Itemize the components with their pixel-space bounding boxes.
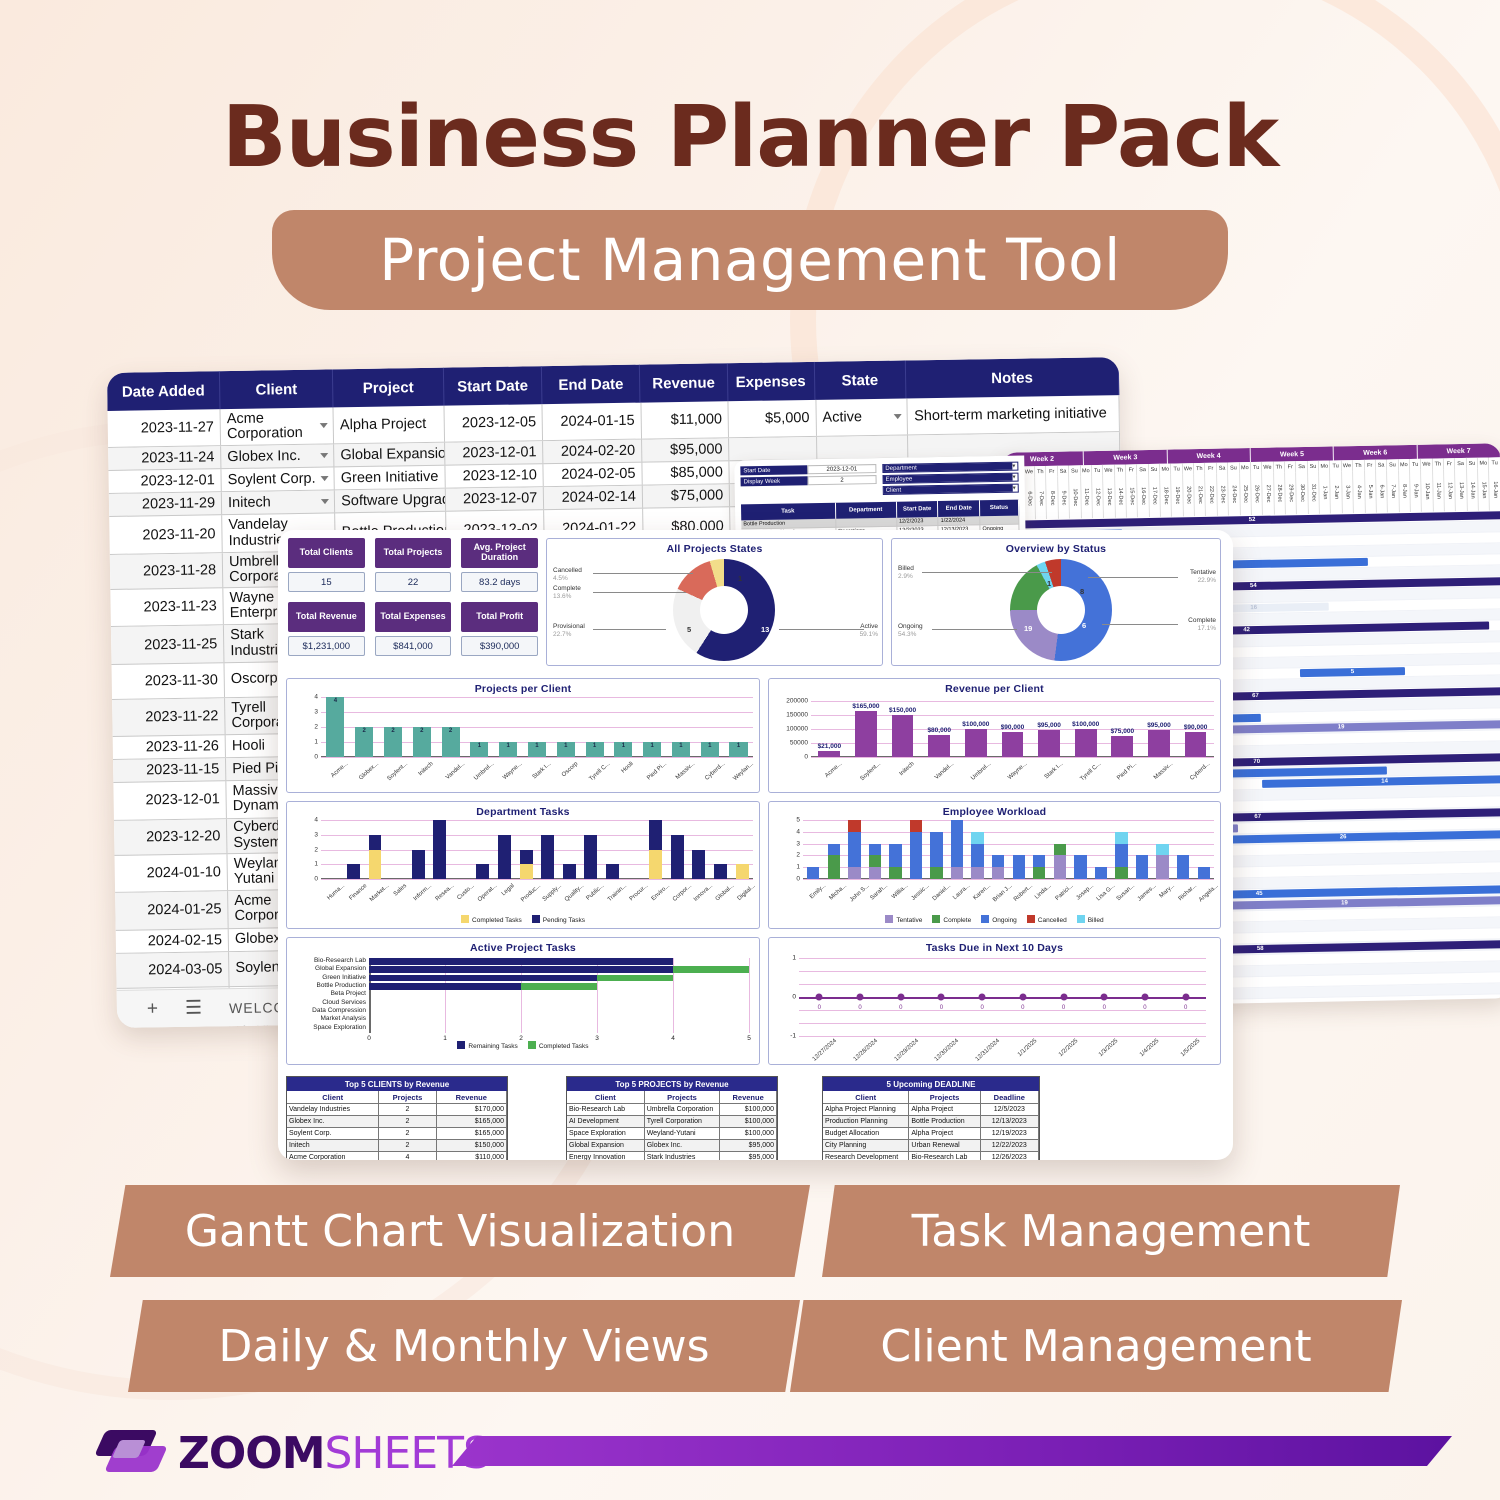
cell[interactable]: Acme Corporation <box>221 407 335 445</box>
cell: Bottle Production <box>909 1116 980 1128</box>
bar-group: Cloud Services <box>369 1000 749 1007</box>
bar-segment <box>889 867 901 879</box>
gantt-date-label: 7-Jan <box>1387 470 1399 512</box>
gantt-date-label: 15-Dec <box>1126 475 1138 517</box>
y-axis-label: Data Compression <box>312 1007 366 1014</box>
y-axis-label: Bottle Production <box>316 982 366 989</box>
data-point <box>816 994 823 1001</box>
bar-group <box>671 820 684 879</box>
kpi-label: Avg. Project Duration <box>461 538 538 568</box>
bar-group <box>714 820 727 879</box>
gantt-client-filter[interactable]: Client▾ <box>883 484 1019 495</box>
cell[interactable]: 2023-11-26 <box>113 735 226 759</box>
chevron-down-icon[interactable]: ▾ <box>1013 485 1016 492</box>
y-axis-label: Market Analysis <box>320 1015 366 1022</box>
bar-group: $100,000 <box>1075 701 1097 757</box>
data-point <box>857 994 864 1001</box>
chevron-down-icon[interactable]: ▾ <box>1012 474 1015 481</box>
x-axis-label: Quality... <box>564 883 585 903</box>
table-row[interactable]: Acme Corporation4$110,000 <box>287 1152 507 1160</box>
x-axis-label: Willia... <box>891 883 909 900</box>
cell[interactable]: $5,000 <box>729 400 817 438</box>
cell[interactable]: 2024-01-25 <box>115 891 229 929</box>
bar-group <box>412 820 425 879</box>
bar-group: $90,000 <box>1185 701 1207 757</box>
column-header: Revenue <box>437 1091 507 1104</box>
chart-all-projects-states[interactable]: All Projects States Cancelled4.5% Comple… <box>546 538 883 666</box>
gantt-display-week-label: Display Week <box>741 476 808 486</box>
chevron-down-icon[interactable]: ▾ <box>1012 463 1015 470</box>
table-title: 5 Upcoming DEADLINE <box>823 1077 1039 1091</box>
gantt-dow-label: Tu <box>1092 465 1104 476</box>
table-row[interactable]: Space ExplorationWeyland-Yutani$100,000 <box>567 1128 777 1140</box>
table-row[interactable]: Global ExpansionGlobex Inc.$95,000 <box>567 1140 777 1152</box>
cell: 2 <box>379 1116 436 1128</box>
gantt-date-label: 20-Dec <box>1183 474 1195 516</box>
cell[interactable]: 2023-11-29 <box>109 493 222 517</box>
gantt-date-label: 4-Jan <box>1353 471 1365 513</box>
x-axis-label: 12/29/2024 <box>893 1038 919 1063</box>
kpi-label: Total Expenses <box>375 602 452 632</box>
x-axis-label: Acme... <box>330 761 349 779</box>
legend-complete: Complete13.6% <box>553 585 581 601</box>
data-label: 0 <box>940 1005 943 1011</box>
x-axis-label: Vandel... <box>934 761 955 781</box>
y-axis-label: Cloud Services <box>322 999 366 1006</box>
cell[interactable] <box>817 436 909 459</box>
bar-segment <box>521 983 597 990</box>
legend-item: Tentative <box>885 915 922 924</box>
gantt-dow-label: Sa <box>1376 459 1388 470</box>
bar-data-label: 1 <box>586 743 604 749</box>
cell[interactable]: 2024-02-14 <box>544 486 643 510</box>
bar-segment <box>828 855 840 879</box>
table-row[interactable]: City PlanningUrban Renewal12/22/2023 <box>823 1140 1039 1152</box>
chart-employee-workload[interactable]: Employee Workload 012345 Emily...Micha..… <box>768 801 1221 929</box>
cell[interactable]: Green Initiative <box>335 466 446 490</box>
gridline <box>321 757 753 758</box>
table-header-row: ClientProjectsRevenue <box>287 1091 507 1104</box>
gantt-date-label: 31-Dec <box>1308 472 1320 514</box>
cell[interactable]: 2023-11-22 <box>112 698 226 736</box>
bar-segment <box>1156 855 1168 879</box>
column-header[interactable]: State <box>814 360 906 399</box>
y-axis-label: Bio-Research Lab <box>314 957 366 964</box>
gantt-dow-label: Mo <box>1239 462 1251 473</box>
cell[interactable]: Active <box>816 398 908 436</box>
cell: 12/13/2023 <box>981 1116 1039 1128</box>
bar-group <box>828 820 840 879</box>
y-axis-tick: 2 <box>314 724 318 731</box>
gantt-date-label: 5-Jan <box>1365 471 1377 513</box>
cell[interactable]: Alpha Project <box>334 406 445 444</box>
gantt-date-label: 25-Dec <box>1240 473 1252 515</box>
gantt-date-label: 14-Dec <box>1115 475 1127 517</box>
column-header[interactable]: Client <box>220 369 334 409</box>
gridline <box>799 1036 1206 1037</box>
chevron-down-icon[interactable] <box>321 499 329 504</box>
bar-segment <box>1115 867 1127 879</box>
cell: Alpha Project Planning <box>823 1104 909 1116</box>
cell[interactable]: Soylent Corp. <box>222 468 335 492</box>
x-axis-label: Karen... <box>973 883 993 902</box>
kpi-value: $390,000 <box>461 636 538 656</box>
column-header[interactable]: End Date <box>542 365 641 405</box>
gantt-date-label: 9-Jan <box>1410 470 1422 512</box>
cell[interactable]: Global Expansion <box>334 443 445 467</box>
gantt-date-label: 3-Jan <box>1342 471 1354 513</box>
footer-accent-bar <box>452 1436 1452 1466</box>
legend-active: Active59.1% <box>860 623 878 639</box>
x-axis-label: Robert... <box>1013 883 1034 903</box>
sheet-list-icon[interactable]: ☰ <box>185 997 203 1020</box>
cell: Stark Industries <box>645 1152 721 1160</box>
gantt-dow-label: Mo <box>1478 457 1490 468</box>
gantt-dow-label: Fr <box>1285 461 1297 472</box>
gantt-dow-label: Fr <box>1205 463 1217 474</box>
chart-title: Tasks Due in Next 10 Days <box>769 938 1220 954</box>
bar-group: 1 <box>528 697 546 757</box>
x-axis-label: Brian J... <box>992 883 1014 903</box>
bar: 1 <box>672 742 690 757</box>
add-sheet-icon[interactable]: + <box>147 998 159 1020</box>
chevron-down-icon[interactable] <box>321 476 329 481</box>
cell[interactable]: 2023-12-20 <box>114 819 228 855</box>
x-axis-label: Lisa G... <box>1096 883 1117 902</box>
bar-group <box>628 820 641 879</box>
data-point <box>938 994 945 1001</box>
bar-group: 1 <box>499 697 517 757</box>
table-top-clients[interactable]: Top 5 CLIENTS by Revenue ClientProjectsR… <box>286 1076 508 1160</box>
table-upcoming-deadlines[interactable]: 5 Upcoming DEADLINE ClientProjectsDeadli… <box>822 1076 1040 1160</box>
cell[interactable]: 2024-02-20 <box>543 440 642 464</box>
cell[interactable]: 2024-02-15 <box>116 929 229 953</box>
data-point <box>1182 994 1189 1001</box>
table-top-projects[interactable]: Top 5 PROJECTS by Revenue ClientProjects… <box>566 1076 778 1160</box>
column-header: End Date <box>938 500 980 517</box>
bar: 1 <box>729 742 747 757</box>
chart-title: Projects per Client <box>287 679 759 695</box>
column-header[interactable]: Revenue <box>640 363 728 402</box>
cell[interactable]: 2023-12-01 <box>113 781 227 819</box>
chevron-down-icon[interactable] <box>320 453 328 458</box>
legend-item: Ongoing <box>981 915 1017 924</box>
column-header[interactable]: Start Date <box>444 366 543 406</box>
cell[interactable]: Short-term marketing initiative <box>908 395 1120 435</box>
legend-swatch <box>932 915 940 923</box>
bar-group: 1 <box>643 697 661 757</box>
cell: 12/19/2023 <box>981 1128 1039 1140</box>
y-axis-tick: 0 <box>796 876 800 883</box>
feature-badge-client: Client Management <box>790 1300 1402 1392</box>
y-axis-tick: 3 <box>314 709 318 716</box>
kpi-value: $841,000 <box>375 636 452 656</box>
feature-badge-views: Daily & Monthly Views <box>128 1300 800 1392</box>
bar-segment <box>910 820 922 832</box>
y-axis-tick: 100000 <box>786 726 808 733</box>
column-header[interactable]: Expenses <box>727 362 815 401</box>
gantt-start-date-value[interactable]: 2023-12-01 <box>807 464 876 474</box>
data-point <box>1060 994 1067 1001</box>
chevron-down-icon[interactable] <box>894 414 902 419</box>
y-axis-tick: 0 <box>792 994 796 1001</box>
column-header: Projects <box>909 1091 980 1104</box>
gantt-dow-label: Th <box>1274 461 1286 472</box>
bar-segment <box>807 867 819 879</box>
bar: 1 <box>528 742 546 757</box>
cell[interactable]: $85,000 <box>642 462 730 485</box>
x-axis-label: Weylan... <box>732 761 755 782</box>
table-row[interactable]: Energy InnovationStark Industries$95,000 <box>567 1152 777 1160</box>
chart-tasks-due[interactable]: Tasks Due in Next 10 Days 10-10000000000… <box>768 937 1221 1065</box>
gridline <box>799 958 1206 959</box>
x-axis-label: Tyrell C... <box>1080 761 1103 782</box>
table-row[interactable]: Alpha Project PlanningAlpha Project12/5/… <box>823 1104 1039 1116</box>
bar-group <box>910 820 922 879</box>
table-row[interactable]: Soylent Corp.2$165,000 <box>287 1128 507 1140</box>
data-label: 0 <box>858 1005 861 1011</box>
x-axis-label: Custo... <box>456 883 475 901</box>
cell[interactable] <box>729 437 817 460</box>
cell: Tyrell Corporation <box>645 1116 721 1128</box>
page-title: Business Planner Pack <box>0 88 1500 187</box>
bar-group: 1 <box>586 697 604 757</box>
cell[interactable]: 2023-11-30 <box>112 663 226 699</box>
bar-group <box>930 820 942 879</box>
gantt-date-label: 27-Dec <box>1262 473 1274 515</box>
bar-segment <box>1054 855 1066 879</box>
bar-group <box>869 820 881 879</box>
bar-segment <box>992 855 1004 867</box>
y-axis-tick: 200000 <box>786 698 808 705</box>
gantt-dow-label: Sa <box>1058 466 1070 477</box>
x-axis-label: Initech <box>417 761 434 777</box>
bar-group <box>1013 820 1025 879</box>
cell[interactable]: $95,000 <box>642 439 730 462</box>
bar-group <box>692 820 705 879</box>
gantt-dow-label: Tu <box>1410 459 1422 470</box>
gantt-department-filter[interactable]: Department▾ <box>882 462 1018 473</box>
bar-group <box>1156 820 1168 879</box>
bar-segment <box>828 844 840 856</box>
kpi-label: Total Projects <box>375 538 452 568</box>
bar-group <box>1115 820 1127 879</box>
y-axis-tick: 0 <box>314 876 318 883</box>
cell[interactable]: 2023-11-28 <box>110 553 224 589</box>
column-header[interactable]: Project <box>333 368 444 408</box>
donut-all-projects: Cancelled4.5% Complete13.6% Provisional2… <box>547 555 882 663</box>
legend-swatch <box>1077 915 1085 923</box>
bar: $80,000 <box>928 735 950 757</box>
cell: Urban Renewal <box>909 1140 980 1152</box>
bar: $95,000 <box>1038 730 1060 757</box>
kpi-label: Total Clients <box>288 538 365 568</box>
bar-segment <box>369 835 382 850</box>
table-row[interactable]: Production PlanningBottle Production12/1… <box>823 1116 1039 1128</box>
cell: Soylent Corp. <box>287 1128 379 1140</box>
cell[interactable]: 2023-12-01 <box>108 470 221 494</box>
cell[interactable]: 2023-11-23 <box>110 588 224 626</box>
bar-segment <box>649 850 662 880</box>
bar-segment <box>1115 832 1127 844</box>
table-row[interactable]: Initech2$150,000 <box>287 1140 507 1152</box>
bar: $75,000 <box>1111 736 1133 757</box>
chevron-down-icon[interactable] <box>320 423 328 428</box>
table-title: Top 5 PROJECTS by Revenue <box>567 1077 777 1091</box>
x-axis-label: Massiv... <box>1153 761 1174 781</box>
dashboard-window[interactable]: Total Clients15Total Projects22Avg. Proj… <box>278 530 1233 1160</box>
cell[interactable]: 2024-03-05 <box>116 952 230 988</box>
table-row[interactable]: Vandelay Industries2$170,000 <box>287 1104 507 1116</box>
chart-projects-per-client[interactable]: Projects per Client 01234422221111111111… <box>286 678 760 793</box>
gantt-display-week-value[interactable]: 2 <box>807 475 876 485</box>
x-axis-label: Umbrel... <box>970 761 992 782</box>
bar-group <box>606 820 619 879</box>
cell[interactable]: $11,000 <box>641 401 729 439</box>
legend-cancelled: Cancelled4.5% <box>553 567 582 583</box>
cell[interactable]: 2024-01-10 <box>114 854 228 892</box>
gantt-dow-label: Su <box>1069 465 1081 476</box>
bar-segment <box>433 820 446 879</box>
cell[interactable]: 2023-12-10 <box>445 465 544 489</box>
cell: Vandelay Industries <box>287 1104 379 1116</box>
value-complete: 6 <box>1082 621 1086 630</box>
kpi-card: Total Expenses$841,000 <box>375 602 452 656</box>
bar-segment <box>369 850 382 880</box>
bar-data-label: 1 <box>643 743 661 749</box>
x-axis-label: Procur... <box>629 883 650 902</box>
bar-segment <box>971 867 983 879</box>
bar-group <box>1095 820 1107 879</box>
x-axis-label: Angela... <box>1198 883 1220 903</box>
cell[interactable]: Software Upgrade <box>335 489 446 513</box>
value-tentative: 8 <box>1080 587 1084 596</box>
cell[interactable]: Initech <box>222 491 335 515</box>
x-axis-label: Richar... <box>1178 883 1198 902</box>
table-row[interactable]: AI DevelopmentTyrell Corporation$100,000 <box>567 1116 777 1128</box>
gantt-bar[interactable]: 5 <box>1300 667 1405 677</box>
gantt-date-label: 7-Dec <box>1035 477 1047 519</box>
gantt-dow-label: Mo <box>1319 461 1331 472</box>
bar: $100,000 <box>965 729 987 757</box>
kpi-value: 22 <box>375 572 452 592</box>
x-axis-label: Josep... <box>1075 883 1095 902</box>
cell[interactable]: 2023-12-01 <box>445 442 544 466</box>
bar-segment <box>951 820 963 867</box>
gantt-date-label: 16-Dec <box>1137 475 1149 517</box>
data-point <box>1101 994 1108 1001</box>
x-axis-label: Soylent... <box>860 761 883 782</box>
feature-badge-gantt: Gantt Chart Visualization <box>110 1185 810 1277</box>
cell[interactable]: 2023-12-05 <box>444 404 543 442</box>
data-label: 0 <box>899 1005 902 1011</box>
x-axis-label: Micha... <box>829 883 849 902</box>
y-axis-tick: 4 <box>796 828 800 835</box>
table-row[interactable]: Bio-Research LabUmbrella Corporation$100… <box>567 1104 777 1116</box>
x-axis-label: Trainin... <box>607 883 628 903</box>
chart-revenue-per-client[interactable]: Revenue per Client 050000100000150000200… <box>768 678 1221 793</box>
cell[interactable]: 2023-11-24 <box>108 447 221 471</box>
chart-department-tasks[interactable]: Department Tasks 01234 Huma...FinanceMar… <box>286 801 760 929</box>
cell[interactable]: 2023-11-25 <box>111 625 225 663</box>
column-header: Department <box>835 502 896 519</box>
bar-segment <box>541 835 554 879</box>
gantt-date-label: 12-Dec <box>1092 476 1104 518</box>
kpi-value: $1,231,000 <box>288 636 365 656</box>
gantt-dow-label: Fr <box>1126 464 1138 475</box>
column-header[interactable]: Date Added <box>107 371 221 411</box>
legend-billed: Billed2.9% <box>898 565 914 581</box>
bar: $21,000 <box>818 751 840 757</box>
x-axis-label: Huma... <box>327 883 347 902</box>
gantt-dow-label: Mo <box>1398 459 1410 470</box>
chart-overview-by-status[interactable]: Overview by Status Billed2.9% Ongoing54.… <box>891 538 1221 666</box>
bar-segment <box>563 864 576 879</box>
table-row[interactable]: Globex Inc.2$165,000 <box>287 1116 507 1128</box>
y-axis-tick: 2 <box>796 852 800 859</box>
cell[interactable]: 2024-01-15 <box>543 403 642 441</box>
gantt-dow-label: Su <box>1228 462 1240 473</box>
x-axis-label: Cyberd... <box>704 761 726 782</box>
x-axis-label: Sarah... <box>870 883 890 902</box>
subtitle-banner: Project Management Tool <box>272 210 1228 310</box>
x-axis-label: Resea... <box>434 883 455 902</box>
x-axis-label: Market... <box>369 883 390 903</box>
bar-group <box>889 820 901 879</box>
cell[interactable]: 2023-11-27 <box>108 409 222 447</box>
cell[interactable]: $75,000 <box>643 485 731 508</box>
cell[interactable]: Globex Inc. <box>221 445 334 469</box>
chart-active-project-tasks[interactable]: Active Project Tasks 012345Bio-Research … <box>286 937 760 1065</box>
chart-title: All Projects States <box>547 539 882 555</box>
table-row[interactable]: Budget AllocationAlpha Project12/19/2023 <box>823 1128 1039 1140</box>
gantt-dow-label: Fr <box>1364 460 1376 471</box>
legend-swatch <box>981 915 989 923</box>
chart-title: Active Project Tasks <box>287 938 759 954</box>
x-axis-label: Globex... <box>358 761 380 782</box>
column-header[interactable]: Notes <box>906 357 1120 398</box>
bar-group: Market Analysis <box>369 1016 749 1023</box>
gantt-employee-filter[interactable]: Employee▾ <box>882 473 1018 484</box>
cell[interactable]: 2023-12-07 <box>446 488 545 512</box>
gantt-date-label: 26-Dec <box>1251 473 1263 515</box>
cell[interactable]: 2023-11-15 <box>113 758 226 782</box>
zoomsheets-logo-icon <box>92 1428 164 1474</box>
data-label: 0 <box>1103 1005 1106 1011</box>
x-axis-label: James... <box>1137 883 1158 903</box>
cell[interactable]: 2024-02-05 <box>544 463 643 487</box>
x-axis-label: Wayne... <box>1007 761 1028 781</box>
gantt-dow-label: Tu <box>1171 463 1183 474</box>
gantt-date-label: 14-Jan <box>1467 469 1479 511</box>
bar-data-label: 1 <box>499 743 517 749</box>
bar: 1 <box>586 742 604 757</box>
cell[interactable]: 2023-11-20 <box>109 516 223 554</box>
gantt-dow-label: We <box>1262 462 1274 473</box>
cell: Acme Corporation <box>287 1152 379 1160</box>
bar-group <box>476 820 489 879</box>
y-axis-label: Green Initiative <box>322 974 366 981</box>
value-active: 13 <box>761 625 769 634</box>
bar: 1 <box>499 742 517 757</box>
legend-swatch <box>461 915 469 923</box>
cell: $165,000 <box>437 1128 507 1140</box>
gantt-dow-label: We <box>1103 465 1115 476</box>
table-row[interactable]: Research DevelopmentBio-Research Lab12/2… <box>823 1152 1039 1160</box>
gantt-dow-label: Su <box>1387 459 1399 470</box>
bar-group <box>455 820 468 879</box>
value-provisional: 5 <box>687 625 691 634</box>
